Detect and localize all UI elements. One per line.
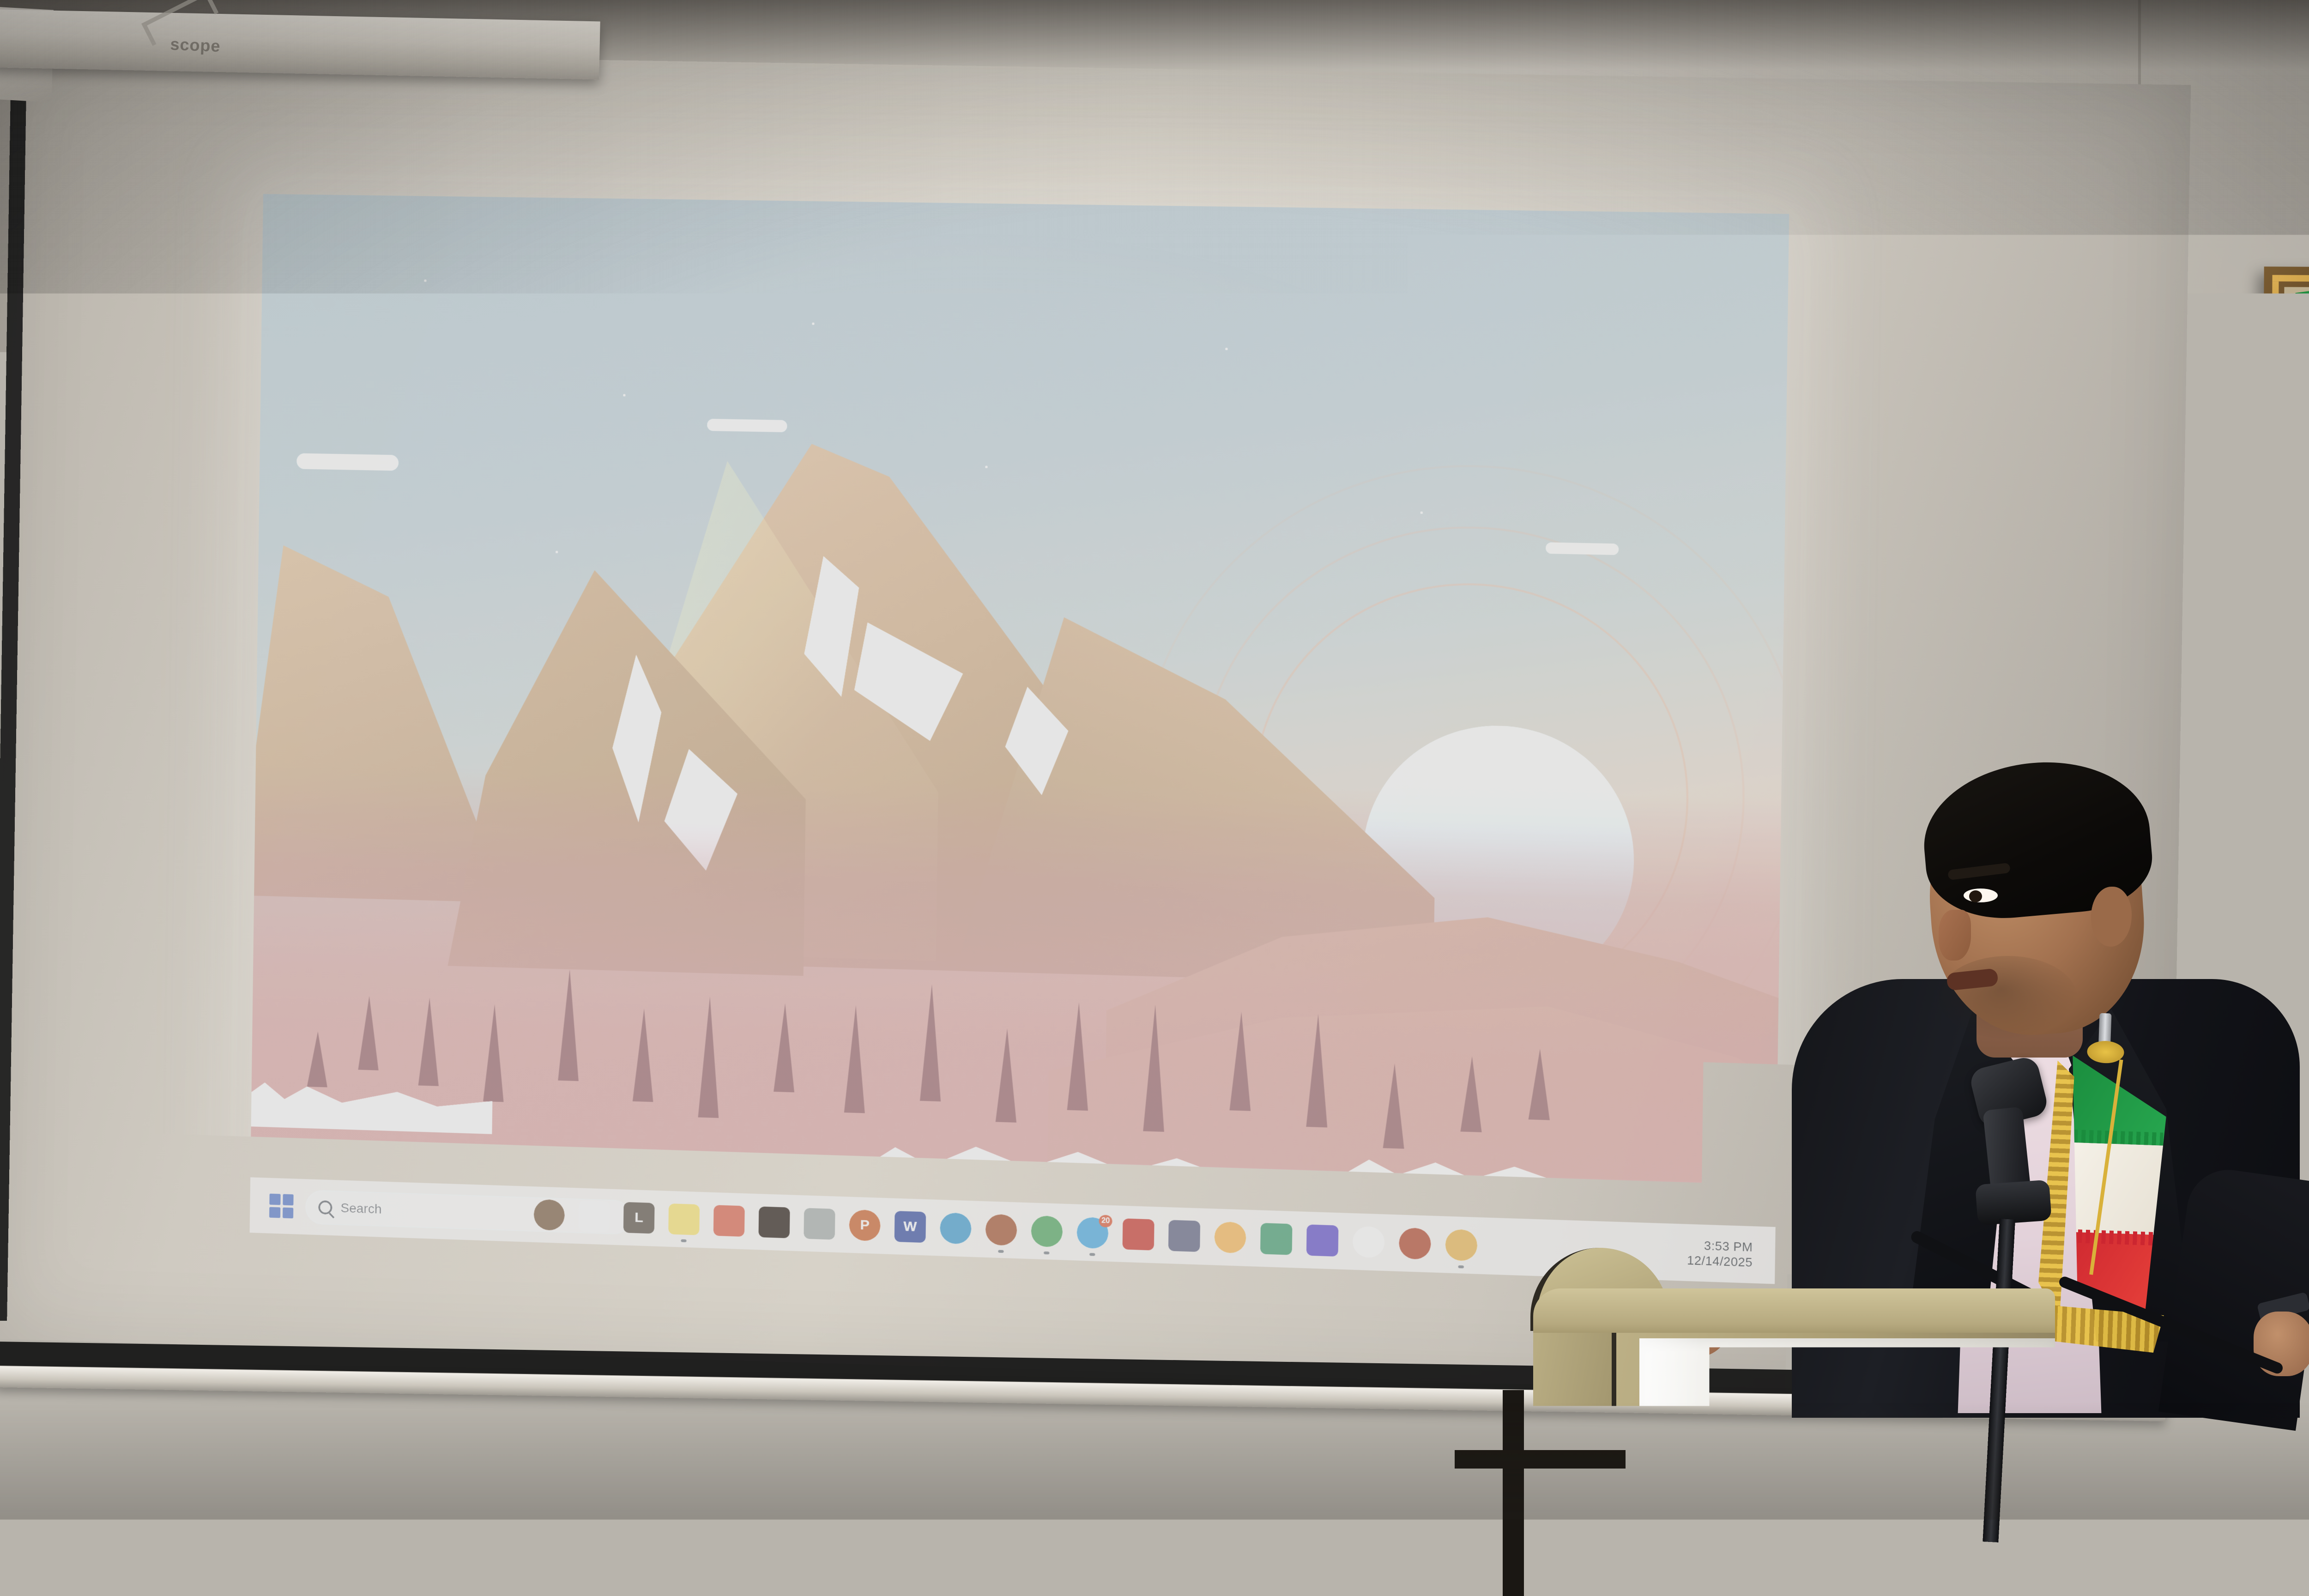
youtube-icon[interactable] — [1123, 1218, 1154, 1250]
housing-brand-label: scope — [170, 35, 221, 56]
vlc-player-icon[interactable] — [985, 1214, 1017, 1246]
floor-shadow — [0, 1402, 2309, 1596]
star-speck — [1225, 348, 1227, 350]
avast-icon-label: V — [1364, 1234, 1373, 1250]
star-speck — [812, 322, 814, 325]
task-view-icon[interactable]: L — [623, 1202, 655, 1234]
pine-tree — [1229, 1011, 1252, 1111]
screen-housing: scope — [0, 9, 600, 79]
taskbar-clock[interactable]: 3:53 PM 12/14/2025 — [1687, 1237, 1753, 1270]
framed-portrait — [2261, 266, 2309, 739]
chrome-beta-icon[interactable] — [1445, 1229, 1477, 1261]
weather-widget[interactable] — [534, 1199, 565, 1231]
cloud — [296, 453, 399, 471]
copyright-watermark: © hormozgan.ac.ir — [924, 797, 1376, 864]
portrait-border-pattern-vertical — [2307, 417, 2309, 641]
star-speck — [985, 466, 987, 468]
search-icon — [318, 1200, 332, 1215]
word-icon-label: W — [903, 1219, 917, 1235]
microsoft-store-icon[interactable] — [1168, 1220, 1200, 1252]
pine-tree — [558, 969, 580, 1081]
pine-tree — [920, 984, 942, 1102]
file-explorer-icon-running-indicator — [681, 1239, 686, 1242]
clock-time: 3:53 PM — [1687, 1237, 1753, 1255]
word-icon[interactable]: W — [895, 1211, 926, 1243]
portrait-border-pattern-horizontal — [2307, 623, 2309, 643]
flag-white-band — [2056, 1142, 2165, 1235]
cloud — [1546, 542, 1619, 555]
speaker-nose — [1939, 910, 1971, 961]
pine-tree — [418, 997, 440, 1086]
powerpoint-icon[interactable]: P — [849, 1209, 880, 1241]
powerpoint-icon-label: P — [860, 1217, 870, 1233]
task-view-icon-label: L — [635, 1210, 643, 1226]
podium-top-surface — [1533, 1288, 2055, 1339]
star-speck — [424, 279, 426, 282]
telegram-icon-running-indicator — [1089, 1253, 1095, 1256]
pine-tree — [1306, 1014, 1329, 1127]
pine-tree — [996, 1028, 1018, 1123]
lecture-hall-photo: Search LPW20V 3:53 PM 12/14/2025 © hormo… — [0, 0, 2309, 1596]
pine-tree — [698, 996, 720, 1118]
flag-cord-knot — [2087, 1040, 2125, 1064]
microphone-joint — [1975, 1180, 2052, 1226]
pine-tree — [1143, 1004, 1166, 1132]
telegram-icon[interactable]: 20 — [1076, 1217, 1108, 1249]
pine-tree — [633, 1008, 654, 1102]
firefox-icon[interactable] — [1399, 1227, 1431, 1260]
cloud — [707, 419, 787, 432]
edge-icon[interactable] — [940, 1212, 972, 1244]
windows-logo-icon[interactable] — [269, 1194, 294, 1219]
pine-tree — [483, 1004, 505, 1102]
telegram-icon-badge: 20 — [1099, 1215, 1112, 1227]
media-player-icon[interactable] — [758, 1206, 790, 1238]
projected-desktop: Search LPW20V 3:53 PM 12/14/2025 — [250, 194, 1789, 1284]
vlc-player-icon-running-indicator — [998, 1250, 1003, 1253]
search-placeholder: Search — [340, 1201, 381, 1217]
pine-tree — [1460, 1056, 1482, 1132]
star-speck — [623, 394, 625, 396]
pine-tree — [1529, 1048, 1551, 1120]
speaker-pupil — [1969, 890, 1982, 902]
whatsapp-icon[interactable] — [1031, 1215, 1063, 1247]
pine-tree — [1383, 1063, 1405, 1149]
portrait-artwork — [2282, 287, 2309, 719]
instagram-icon[interactable] — [713, 1205, 745, 1237]
pine-tree — [774, 1003, 795, 1092]
whatsapp-icon-running-indicator — [1044, 1251, 1049, 1255]
clock-date: 12/14/2025 — [1687, 1252, 1753, 1270]
chrome-beta-icon-running-indicator — [1458, 1265, 1464, 1269]
pine-tree — [307, 1031, 328, 1087]
pine-tree — [358, 996, 379, 1070]
pine-tree — [1067, 1002, 1090, 1111]
excel-icon[interactable] — [1260, 1223, 1293, 1255]
avast-icon[interactable]: V — [1353, 1226, 1385, 1258]
pine-tree — [844, 1005, 866, 1113]
chatgpt-icon[interactable] — [804, 1208, 835, 1240]
powerbi-icon[interactable] — [1306, 1224, 1339, 1257]
chrome-icon[interactable] — [1214, 1221, 1246, 1254]
copilot-icon[interactable] — [579, 1201, 610, 1233]
speaker-beard-shadow — [1939, 956, 2077, 1039]
file-explorer-icon[interactable] — [668, 1203, 700, 1235]
star-speck — [556, 551, 558, 553]
